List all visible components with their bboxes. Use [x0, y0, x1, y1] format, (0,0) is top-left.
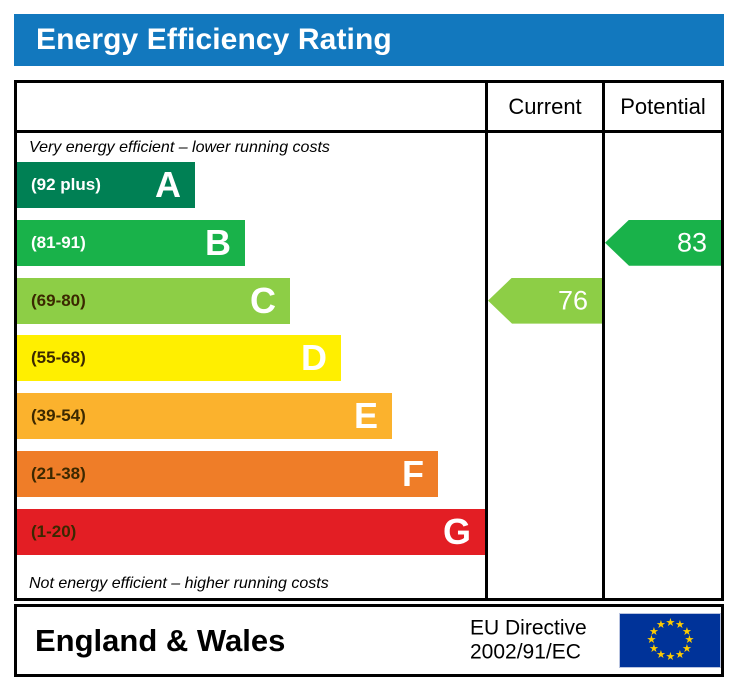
footer-region-label: England & Wales [35, 623, 285, 659]
rating-arrow-potential: 83 [605, 220, 721, 266]
band-letter-g: G [443, 514, 471, 550]
title-bar: Energy Efficiency Rating [14, 14, 724, 66]
band-letter-e: E [354, 398, 378, 434]
band-letter-b: B [205, 225, 231, 261]
eu-star-icon: ★ [666, 619, 675, 628]
footer: England & Wales EU Directive 2002/91/EC … [14, 604, 724, 677]
band-range-b: (81-91) [31, 233, 86, 253]
header-divider [17, 130, 721, 133]
rating-band-f: (21-38)F [17, 451, 438, 497]
column-header-current: Current [488, 83, 602, 130]
rating-band-g: (1-20)G [17, 509, 485, 555]
footer-directive-line2: 2002/91/EC [470, 641, 587, 665]
eu-flag-icon: ★★★★★★★★★★★★ [619, 613, 721, 668]
rating-band-e: (39-54)E [17, 393, 392, 439]
page-title: Energy Efficiency Rating [36, 23, 392, 57]
band-letter-d: D [301, 340, 327, 376]
rating-band-b: (81-91)B [17, 220, 245, 266]
caption-bottom: Not energy efficient – higher running co… [29, 570, 329, 598]
caption-top: Very energy efficient – lower running co… [29, 134, 330, 162]
band-letter-a: A [155, 167, 181, 203]
band-range-d: (55-68) [31, 348, 86, 368]
rating-value-current: 76 [558, 287, 588, 314]
band-range-g: (1-20) [31, 522, 76, 542]
eu-star-icon: ★ [666, 653, 675, 662]
column-header-potential: Potential [605, 83, 721, 130]
column-divider-current [485, 83, 488, 598]
rating-chart: Current Potential Very energy efficient … [14, 80, 724, 601]
eu-star-icon: ★ [656, 621, 665, 630]
band-range-f: (21-38) [31, 464, 86, 484]
rating-arrow-current: 76 [488, 278, 602, 324]
eu-star-icon: ★ [675, 651, 684, 660]
band-range-c: (69-80) [31, 291, 86, 311]
band-letter-f: F [402, 456, 424, 492]
footer-directive: EU Directive 2002/91/EC [470, 616, 587, 665]
rating-band-d: (55-68)D [17, 335, 341, 381]
rating-bands: (92 plus)A(81-91)B(69-80)C(55-68)D(39-54… [17, 162, 485, 567]
energy-efficiency-certificate: Energy Efficiency Rating Current Potenti… [0, 0, 738, 691]
rating-band-c: (69-80)C [17, 278, 290, 324]
rating-value-potential: 83 [677, 229, 707, 256]
column-divider-potential [602, 83, 605, 598]
band-range-a: (92 plus) [31, 175, 101, 195]
band-range-e: (39-54) [31, 406, 86, 426]
footer-directive-line1: EU Directive [470, 616, 587, 640]
band-letter-c: C [250, 283, 276, 319]
rating-band-a: (92 plus)A [17, 162, 195, 208]
